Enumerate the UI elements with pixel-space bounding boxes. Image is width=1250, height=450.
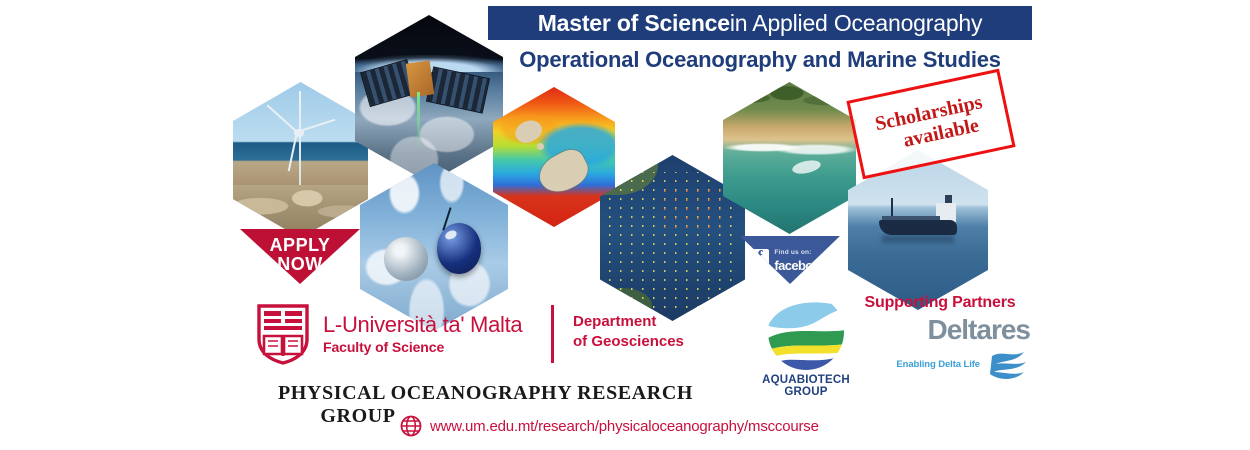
ship-reflection-art bbox=[882, 235, 955, 243]
deltares-wordmark: Deltares bbox=[880, 314, 1030, 346]
facebook-find-us-label: Find us on: bbox=[774, 249, 811, 256]
deltares-delta-icon bbox=[986, 344, 1030, 384]
apply-now-line2: NOW bbox=[270, 255, 331, 274]
surf-line-art bbox=[723, 137, 856, 158]
department-name: Department of Geosciences bbox=[573, 312, 684, 352]
sst-model-art bbox=[493, 87, 615, 227]
hex-wind-turbine-coast bbox=[233, 82, 368, 238]
university-of-malta-logo: L-Università ta' Malta Faculty of Scienc… bbox=[255, 303, 522, 365]
turbine-blade-icon bbox=[288, 132, 298, 172]
hex-satellite-earth-observation bbox=[355, 15, 503, 183]
scholarships-available-stamp: Scholarships available bbox=[846, 69, 1015, 180]
instrument-float-icon bbox=[384, 237, 428, 281]
course-subtitle: Operational Oceanography and Marine Stud… bbox=[488, 45, 1032, 75]
apply-now-line1: APPLY bbox=[270, 236, 331, 255]
aquabiotech-name: AQUABIOTECH GROUP bbox=[742, 374, 870, 398]
hex-sea-surface-temperature-model bbox=[493, 87, 615, 227]
satellite-art bbox=[355, 15, 503, 183]
globe-icon bbox=[400, 415, 422, 437]
course-title-bar: Master of Science in Applied Oceanograph… bbox=[488, 6, 1032, 40]
department-line1: Department bbox=[573, 312, 684, 332]
faculty-name: Faculty of Science bbox=[323, 339, 522, 356]
university-name: L-Università ta' Malta bbox=[323, 313, 522, 337]
vegetation-art bbox=[723, 82, 856, 122]
logo-divider bbox=[551, 305, 554, 363]
wave-wake-art bbox=[791, 158, 822, 176]
facebook-badge-button[interactable]: Find us on: facebook. bbox=[740, 236, 840, 284]
wind-turbine-art bbox=[233, 82, 368, 238]
course-title-rest: in Applied Oceanography bbox=[730, 10, 982, 37]
department-line2: of Geosciences bbox=[573, 332, 684, 352]
deltares-tagline: Enabling Delta Life bbox=[896, 359, 980, 370]
warm-current-arrows-art bbox=[664, 185, 731, 228]
course-url-link[interactable]: www.um.edu.mt/research/physicaloceanogra… bbox=[400, 415, 819, 437]
ship-hull-icon bbox=[879, 220, 957, 234]
promotional-banner: APPLY NOW bbox=[0, 0, 1250, 450]
turbine-hub-icon bbox=[294, 129, 304, 137]
satellite-beam-icon bbox=[417, 92, 420, 149]
deltares-logo: Deltares Enabling Delta Life bbox=[880, 314, 1030, 384]
facebook-icon bbox=[750, 249, 769, 268]
turbine-blade-icon bbox=[267, 104, 298, 132]
facebook-wordmark: facebook. bbox=[774, 258, 829, 273]
apply-now-button[interactable]: APPLY NOW bbox=[240, 229, 360, 284]
course-url-text: www.um.edu.mt/research/physicaloceanogra… bbox=[430, 418, 819, 435]
supporting-partners-heading: Supporting Partners bbox=[845, 294, 1035, 312]
university-crest-icon bbox=[255, 303, 311, 365]
blue-float-icon bbox=[437, 223, 481, 273]
course-title-bold: Master of Science bbox=[538, 10, 730, 37]
